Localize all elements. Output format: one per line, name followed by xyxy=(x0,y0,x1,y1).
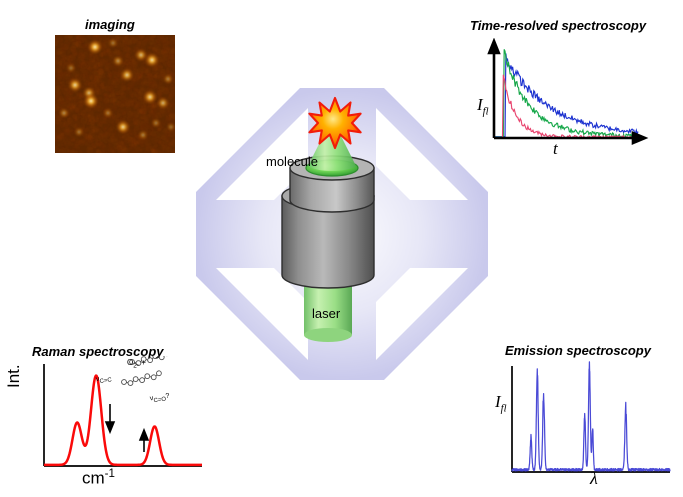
decay-curve xyxy=(494,49,638,137)
molecule-label: molecule xyxy=(266,154,318,169)
emission-x-axis-label: λ xyxy=(590,468,598,489)
four-way-arrow-background xyxy=(196,88,488,380)
time-resolved-y-axis-label: Ifl xyxy=(477,95,489,117)
raman-y-axis-label: Int. xyxy=(4,364,24,388)
panel-title-time-resolved: Time-resolved spectroscopy xyxy=(470,18,646,33)
figure-canvas: imaging xyxy=(0,0,683,497)
raman-spectrum-plot xyxy=(20,356,210,486)
raman-marker-arrows xyxy=(106,404,148,452)
panel-title-emission: Emission spectroscopy xyxy=(505,343,651,358)
raman-trace xyxy=(44,376,202,465)
time-resolved-axes xyxy=(489,41,645,143)
time-resolved-x-axis-label: t xyxy=(553,139,558,159)
emission-spectrum-plot xyxy=(500,360,675,490)
raman-annotation-oxygen: O2, + xyxy=(127,358,146,370)
raman-x-axis-label: cm-1 xyxy=(82,468,115,489)
emission-trace xyxy=(512,362,670,471)
raman-axes xyxy=(44,364,202,466)
imaging-fluorescence-image xyxy=(55,35,175,153)
panel-title-imaging: imaging xyxy=(85,17,135,32)
emission-y-axis-label: Ifl xyxy=(495,392,507,414)
time-resolved-decay-plot xyxy=(480,38,650,153)
decay-curve xyxy=(494,53,638,136)
laser-label: laser xyxy=(312,306,340,321)
center-glow xyxy=(196,88,488,380)
decay-curves xyxy=(494,49,638,137)
